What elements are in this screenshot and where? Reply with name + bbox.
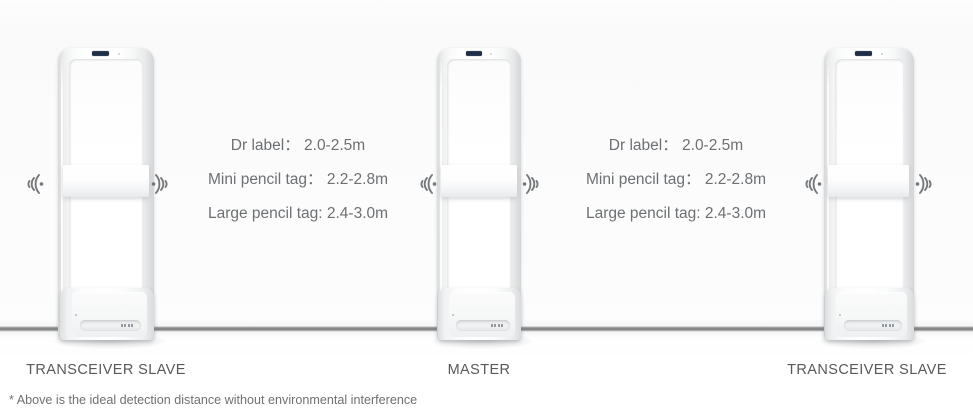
led-indicator — [491, 324, 493, 327]
gate-right[interactable] — [824, 48, 914, 340]
gate-center-screw — [452, 314, 454, 316]
caption-gate-center: MASTER — [406, 362, 552, 378]
gate-center-base-face — [449, 292, 515, 337]
range-right-line-3: Large pencil tag: 2.4-3.0m — [556, 197, 796, 231]
signal-wave-left-icon — [406, 163, 440, 205]
led-indicator — [494, 324, 496, 327]
diagram-canvas: Dr label： 2.0-2.5m Mini pencil tag： 2.2-… — [0, 0, 973, 415]
gate-center-base-unit — [438, 288, 521, 340]
gate-center[interactable] — [437, 48, 521, 340]
gate-left-top-dot — [118, 53, 120, 55]
gate-right-led-indicators — [882, 324, 895, 327]
led-indicator — [121, 324, 123, 327]
gate-center-top-dot — [490, 53, 492, 55]
gate-right-base-unit — [825, 288, 914, 340]
gate-right-antenna-band — [828, 165, 909, 197]
signal-wave-right-icon — [912, 163, 946, 205]
gate-left-led-indicators — [121, 324, 134, 327]
gate-right-screw — [839, 314, 841, 316]
range-right-line-1: Dr label： 2.0-2.5m — [556, 129, 796, 163]
range-right: Dr label： 2.0-2.5m Mini pencil tag： 2.2-… — [556, 129, 796, 231]
gate-left-antenna-band — [63, 165, 149, 197]
range-left: Dr label： 2.0-2.5m Mini pencil tag： 2.2-… — [178, 129, 418, 231]
gate-right-status-indicator — [855, 51, 872, 56]
signal-wave-left-icon — [791, 163, 825, 205]
caption-gate-right: TRANSCEIVER SLAVE — [787, 362, 947, 378]
led-indicator — [892, 324, 894, 327]
led-indicator — [501, 324, 503, 327]
gate-left-status-indicator — [92, 51, 109, 56]
led-indicator — [889, 324, 891, 327]
range-right-line-2: Mini pencil tag： 2.2-2.8m — [556, 163, 796, 197]
gate-center-led-indicators — [491, 324, 504, 327]
led-indicator — [131, 324, 133, 327]
gate-center-antenna-band — [441, 165, 517, 197]
signal-wave-left-icon — [13, 163, 47, 205]
range-left-line-1: Dr label： 2.0-2.5m — [178, 129, 418, 163]
signal-wave-right-icon — [519, 163, 553, 205]
led-indicator — [498, 324, 500, 327]
footnote: * Above is the ideal detection distance … — [9, 393, 417, 407]
gate-right-top-dot — [881, 53, 883, 55]
gate-left-base-unit — [60, 288, 154, 340]
gate-left[interactable] — [58, 48, 154, 340]
led-indicator — [882, 324, 884, 327]
range-left-line-3: Large pencil tag: 2.4-3.0m — [178, 197, 418, 231]
range-left-line-2: Mini pencil tag： 2.2-2.8m — [178, 163, 418, 197]
gate-center-status-indicator — [466, 51, 482, 56]
led-indicator — [885, 324, 887, 327]
gate-left-base-face — [72, 292, 147, 337]
gate-left-screw — [75, 314, 77, 316]
led-indicator — [128, 324, 130, 327]
gate-right-base-face — [836, 292, 907, 337]
caption-gate-left: TRANSCEIVER SLAVE — [26, 362, 186, 378]
led-indicator — [124, 324, 126, 327]
signal-wave-right-icon — [148, 163, 182, 205]
